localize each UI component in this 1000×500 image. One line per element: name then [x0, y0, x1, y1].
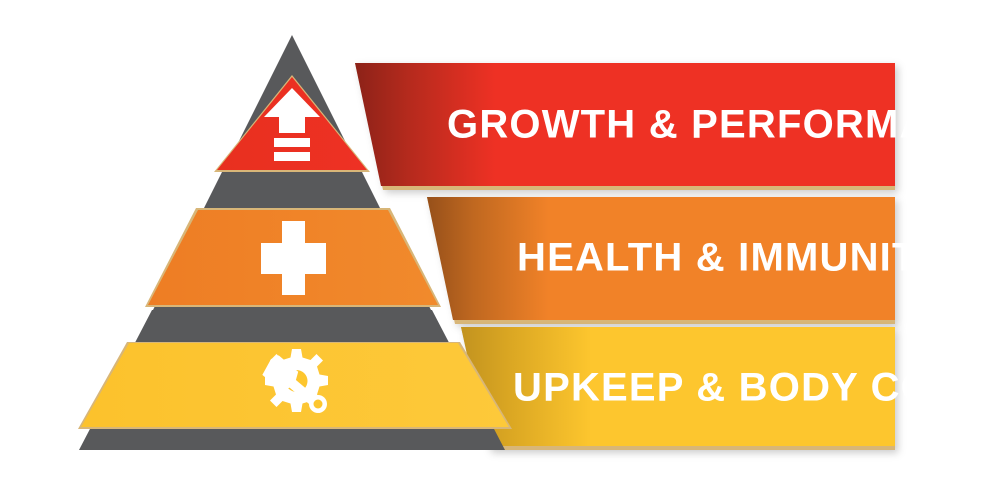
diagram-canvas: GROWTH & PERFORMANCE HEALTH & IMMUNITY U… — [0, 0, 1000, 500]
banner-tier-3-label: UPKEEP & BODY CONDITION — [513, 366, 1000, 410]
pyramid-tier-3[interactable] — [78, 342, 512, 429]
banner-tier-1[interactable]: GROWTH & PERFORMANCE — [355, 63, 1000, 190]
banner-tier-3[interactable]: UPKEEP & BODY CONDITION — [461, 327, 1000, 450]
banner-tier-2-label: HEALTH & IMMUNITY — [517, 236, 946, 280]
pyramid-infographic: GROWTH & PERFORMANCE HEALTH & IMMUNITY U… — [0, 0, 1000, 500]
banner-tier-1-label: GROWTH & PERFORMANCE — [447, 103, 1000, 147]
banner-tier-2[interactable]: HEALTH & IMMUNITY — [427, 197, 946, 324]
pyramid-tier-2[interactable] — [145, 208, 441, 307]
pyramid-tier-1[interactable] — [214, 75, 370, 172]
